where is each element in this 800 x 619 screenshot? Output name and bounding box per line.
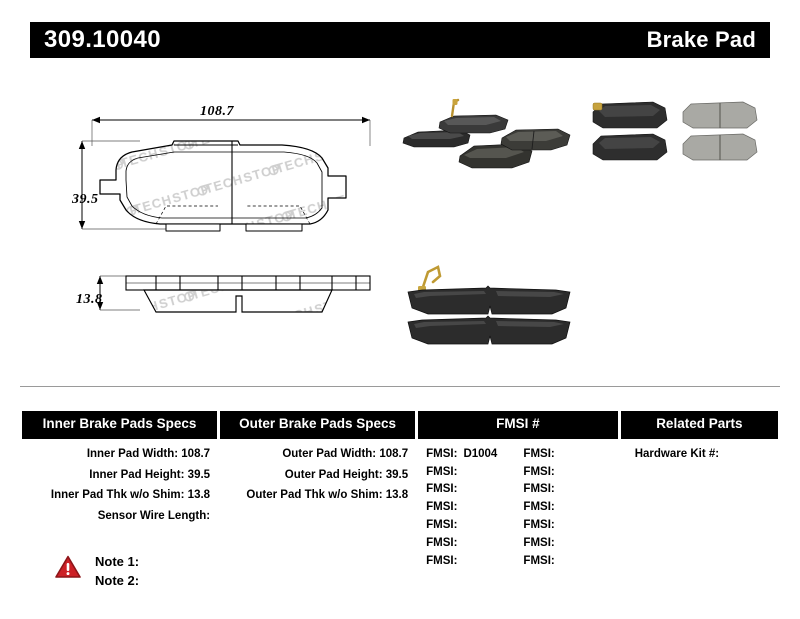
specs-table: Inner Brake Pads Specs Outer Brake Pads …	[22, 411, 778, 571]
spec-row: Outer Pad Height: 39.5	[220, 467, 418, 488]
spec-label: Inner Pad Width:	[87, 448, 178, 460]
fmsi-value	[457, 537, 463, 549]
spec-row	[220, 508, 418, 512]
fmsi-label: FMSI:	[523, 519, 554, 531]
fmsi-label: FMSI:	[426, 555, 457, 567]
note-line-1: Note 1:	[95, 553, 139, 572]
header-related-parts: Related Parts	[621, 411, 778, 439]
fmsi-label: FMSI:	[523, 555, 554, 567]
fmsi-label: FMSI:	[426, 448, 457, 460]
fmsi-row: FMSI:	[426, 499, 523, 517]
spec-label: Outer Pad Thk w/o Shim:	[246, 489, 382, 501]
fmsi-value	[457, 555, 463, 567]
spec-row: Inner Pad Width: 108.7	[22, 446, 220, 467]
photo-pads-angled-set	[398, 94, 573, 174]
inner-specs-column: Inner Pad Width: 108.7 Inner Pad Height:…	[22, 446, 220, 571]
fmsi-label: FMSI:	[426, 501, 457, 513]
table-header-row: Inner Brake Pads Specs Outer Brake Pads …	[22, 411, 778, 439]
fmsi-value	[555, 519, 561, 531]
fmsi-row: FMSI:	[523, 464, 620, 482]
drawing-area: STOP TECH	[0, 70, 800, 370]
fmsi-value	[555, 537, 561, 549]
spec-value: 108.7	[379, 448, 408, 460]
backing-plate	[126, 276, 370, 290]
fmsi-row: FMSI:	[426, 535, 523, 553]
friction-block	[144, 290, 332, 312]
fmsi-label: FMSI:	[426, 466, 457, 478]
outer-specs-column: Outer Pad Width: 108.7 Outer Pad Height:…	[220, 446, 418, 571]
fmsi-label: FMSI:	[523, 466, 554, 478]
spec-label: Outer Pad Height:	[285, 469, 383, 481]
photo-pads-grid-front-back	[583, 94, 773, 174]
spec-value: 13.8	[386, 489, 408, 501]
fmsi-row: FMSI:	[523, 446, 620, 464]
fmsi-value	[457, 466, 463, 478]
note-lines: Note 1: Note 2:	[95, 553, 139, 591]
spec-row: Inner Pad Height: 39.5	[22, 467, 220, 488]
fmsi-label: FMSI:	[426, 537, 457, 549]
header-outer-specs: Outer Brake Pads Specs	[220, 411, 418, 439]
fmsi-value	[555, 555, 561, 567]
fmsi-label: FMSI:	[523, 537, 554, 549]
note-line-2: Note 2:	[95, 572, 139, 591]
width-dimension-label: 108.7	[200, 104, 234, 120]
fmsi-value	[555, 466, 561, 478]
photo-pads-edge-pair	[400, 252, 585, 357]
fmsi-value	[555, 448, 561, 460]
fmsi-row: FMSI:	[523, 553, 620, 571]
thickness-dimension-label: 13.8	[76, 292, 103, 308]
spec-label: Sensor Wire Length:	[98, 510, 210, 522]
spec-sheet-page: 309.10040 Brake Pad STOP TECH	[0, 0, 800, 619]
header-bar: 309.10040 Brake Pad	[30, 22, 770, 58]
spec-row: Outer Pad Thk w/o Shim: 13.8	[220, 487, 418, 508]
warning-triangle-icon	[55, 555, 81, 579]
fmsi-subcolumn-left: FMSI:D1004 FMSI: FMSI: FMSI: FMSI:	[426, 446, 523, 571]
fmsi-subcolumn-right: FMSI: FMSI: FMSI: FMSI: FMSI:	[523, 446, 620, 571]
section-separator	[20, 386, 780, 387]
part-number: 309.10040	[44, 28, 161, 52]
spec-row: Sensor Wire Length:	[22, 508, 220, 529]
related-part-row: Hardware Kit #:	[635, 446, 778, 463]
fmsi-value	[457, 519, 463, 531]
fmsi-column: FMSI:D1004 FMSI: FMSI: FMSI: FMSI:	[418, 446, 621, 571]
fmsi-value	[555, 483, 561, 495]
fmsi-value	[457, 483, 463, 495]
brake-pad-face-drawing: STOP TECH	[70, 110, 400, 240]
spec-value: 108.7	[181, 448, 210, 460]
fmsi-row: FMSI:	[523, 535, 620, 553]
related-part-label: Hardware Kit #:	[635, 448, 719, 460]
fmsi-row: FMSI:	[426, 553, 523, 571]
fmsi-label: FMSI:	[523, 448, 554, 460]
fmsi-row: FMSI:	[426, 517, 523, 535]
related-parts-column: Hardware Kit #:	[621, 446, 778, 571]
fmsi-row: FMSI:D1004	[426, 446, 523, 464]
notes-section: Note 1: Note 2:	[55, 553, 139, 591]
fmsi-label: FMSI:	[426, 483, 457, 495]
header-fmsi: FMSI #	[418, 411, 621, 439]
fmsi-value: D1004	[457, 448, 497, 460]
spec-value: 39.5	[188, 469, 210, 481]
fmsi-row: FMSI:	[523, 499, 620, 517]
height-dimension-label: 39.5	[72, 192, 99, 208]
header-inner-specs: Inner Brake Pads Specs	[22, 411, 220, 439]
spec-label: Inner Pad Height:	[89, 469, 184, 481]
fmsi-label: FMSI:	[523, 483, 554, 495]
fmsi-label: FMSI:	[523, 501, 554, 513]
fmsi-row: FMSI:	[523, 517, 620, 535]
spec-value: 39.5	[386, 469, 408, 481]
fmsi-value	[457, 501, 463, 513]
fmsi-row: FMSI:	[523, 481, 620, 499]
fmsi-row: FMSI:	[426, 464, 523, 482]
fmsi-label: FMSI:	[426, 519, 457, 531]
brake-pad-edge-drawing	[70, 262, 400, 342]
spec-label: Inner Pad Thk w/o Shim:	[51, 489, 185, 501]
fmsi-row: FMSI:	[426, 481, 523, 499]
spec-row: Inner Pad Thk w/o Shim: 13.8	[22, 487, 220, 508]
fmsi-value	[555, 501, 561, 513]
pad-outline	[100, 141, 346, 231]
spec-row: Outer Pad Width: 108.7	[220, 446, 418, 467]
spec-label: Outer Pad Width:	[282, 448, 376, 460]
table-body: Inner Pad Width: 108.7 Inner Pad Height:…	[22, 439, 778, 571]
spec-value: 13.8	[188, 489, 210, 501]
product-type: Brake Pad	[647, 29, 756, 51]
